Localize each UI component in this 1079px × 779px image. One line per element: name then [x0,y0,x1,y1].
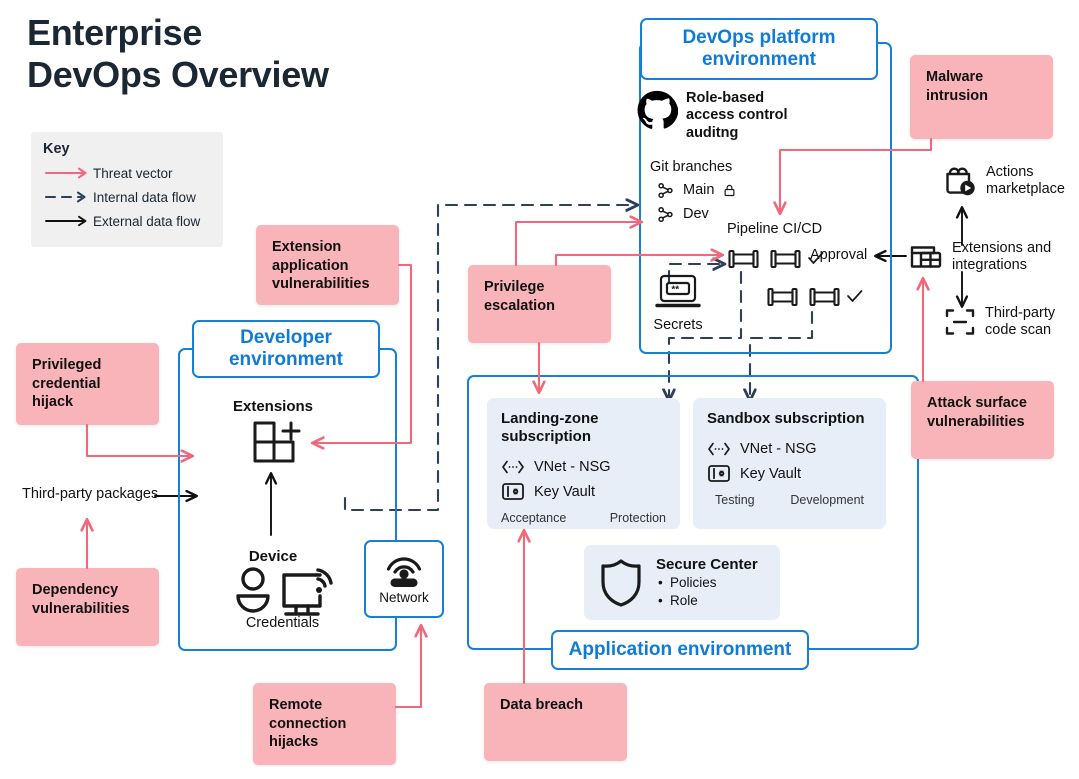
pipeline-icon [769,246,803,272]
developer-environment-label: Developer environment [192,320,380,378]
landing-zone-keyvault-label: Key Vault [534,484,595,500]
pipeline-icon [766,284,800,310]
secure-center-bullet-role: • Role [670,592,766,610]
threat-privilege-escalation: Privilege escalation [468,265,611,343]
page-title-line-2: DevOps Overview [27,54,427,96]
threat-remote-connection-hijacks-label: Remote connection hijacks [269,697,346,750]
legend-label-internal-data-flow: Internal data flow [93,190,196,205]
threat-extension-application-vulnerabilities: Extension application vulnerabilities [256,225,399,305]
vnet-icon [501,459,525,475]
secrets-terminal-icon: **_ [653,272,703,312]
sandbox-footer-left: Testing [715,493,755,507]
marketplace-bag-icon [942,163,978,199]
sandbox-subscription-card: Sandbox subscription VNet - NSG [693,398,886,529]
threat-privileged-credential-hijack: Privileged credential hijack [16,343,159,425]
threat-privileged-credential-hijack-label: Privileged credential hijack [32,357,101,410]
secrets-label: Secrets [646,317,710,335]
application-environment-label: Application environment [551,630,809,670]
extensions-integrations-group: Extensions and integrations [908,240,1078,275]
legend-item-threat-vector: Threat vector [43,161,211,185]
git-branch-dev-label: Dev [683,206,709,223]
extensions-grid-icon [908,241,944,273]
legend-item-internal-data-flow: Internal data flow [43,185,211,209]
landing-zone-footer-left: Acceptance [501,511,566,525]
key-vault-icon [707,464,731,483]
pipeline-heading: Pipeline CI/CD [727,221,822,239]
code-scan-icon [943,305,977,339]
pipeline-stages-row-2 [766,284,864,315]
devops-platform-environment-label: DevOps platform environment [640,18,878,80]
secure-center-card: Secure Center • Policies • Role [584,545,780,620]
sandbox-vnet-label: VNet - NSG [740,441,817,457]
credentials-label: Credentials [225,615,340,633]
check-icon [846,290,864,310]
landing-zone-subscription-title: Landing-zone subscription [501,410,666,446]
threat-data-breach-label: Data breach [500,697,583,713]
pipeline-icon [727,246,761,272]
third-party-code-scan-group: Third-party code scan [943,305,1079,340]
role-based-access-control-label: Role-based access control auditng [686,90,806,142]
pipeline-icon [808,284,842,310]
git-branch-icon [656,181,675,200]
secure-center-title: Secure Center [656,556,766,573]
network-antenna-icon [381,553,427,589]
network-box: Network [364,540,444,618]
sandbox-footer: Testing Development [707,493,872,507]
landing-zone-footer: Acceptance Protection [501,511,666,525]
git-branch-dev-row: Dev [656,205,709,224]
actions-marketplace-group: Actions marketplace [942,163,1079,199]
threat-dependency-vulnerabilities-label: Dependency vulnerabilities [32,582,130,617]
lock-icon [722,183,737,198]
shield-icon [598,557,644,609]
threat-dependency-vulnerabilities: Dependency vulnerabilities [16,568,159,646]
legend: Key Threat vector Internal data flow [31,132,223,247]
solid-black-arrow-icon [43,211,93,231]
extensions-label: Extensions [213,398,333,416]
threat-privilege-escalation-label: Privilege escalation [484,279,555,314]
threat-extension-application-vulnerabilities-label: Extension application vulnerabilities [272,239,370,292]
threat-attack-surface-vulnerabilities-label: Attack surface vulnerabilities [927,395,1027,430]
landing-zone-subscription-card: Landing-zone subscription VNet - NSG [487,398,680,529]
threat-malware-intrusion: Malware intrusion [910,55,1053,139]
legend-title: Key [43,141,211,157]
sandbox-subscription-title: Sandbox subscription [707,410,872,428]
legend-label-external-data-flow: External data flow [93,214,200,229]
secure-center-bullet-policies: • Policies [670,574,766,592]
landing-zone-vnet-label: VNet - NSG [534,459,611,475]
role-based-access-control-group: Role-based access control auditng [636,90,836,142]
threat-remote-connection-hijacks: Remote connection hijacks [253,683,396,765]
vnet-icon [707,441,731,457]
secure-center-bullet-role-label: Role [670,593,698,608]
bullet-icon: • [658,574,663,592]
actions-marketplace-label: Actions marketplace [986,164,1079,199]
pipeline-approval-label: Approval [810,247,867,265]
landing-zone-keyvault-row: Key Vault [501,479,666,504]
sandbox-vnet-row: VNet - NSG [707,436,872,461]
dashed-dark-arrow-icon [43,187,93,207]
git-branch-main-label: Main [683,182,714,199]
page-title: Enterprise DevOps Overview [27,12,427,97]
github-icon [636,90,678,132]
extensions-plus-icon [252,418,306,475]
sandbox-keyvault-label: Key Vault [740,466,801,482]
bullet-icon: • [658,592,663,610]
git-branch-main-row: Main [656,181,737,200]
diagram-canvas: Enterprise DevOps Overview Key Threat ve… [0,0,1079,779]
sandbox-keyvault-row: Key Vault [707,461,872,486]
solid-pink-arrow-icon [43,163,93,183]
git-branch-icon [656,205,675,224]
sandbox-footer-right: Development [790,493,864,507]
svg-text:**_: **_ [671,285,685,296]
extensions-integrations-label: Extensions and integrations [952,240,1074,275]
network-label: Network [379,590,429,605]
key-vault-icon [501,482,525,501]
third-party-code-scan-label: Third-party code scan [985,305,1079,340]
page-title-line-1: Enterprise [27,12,427,54]
legend-label-threat-vector: Threat vector [93,166,173,181]
third-party-packages-label: Third-party packages [22,486,158,504]
secrets-group: **_ Secrets [646,272,710,335]
threat-attack-surface-vulnerabilities: Attack surface vulnerabilities [911,381,1054,459]
landing-zone-vnet-row: VNet - NSG [501,454,666,479]
secure-center-bullet-policies-label: Policies [670,575,717,590]
git-branches-heading: Git branches [650,159,732,177]
legend-item-external-data-flow: External data flow [43,209,211,233]
landing-zone-footer-right: Protection [610,511,666,525]
threat-data-breach: Data breach [484,683,627,761]
threat-malware-intrusion-label: Malware intrusion [926,69,988,104]
device-label: Device [231,548,315,566]
